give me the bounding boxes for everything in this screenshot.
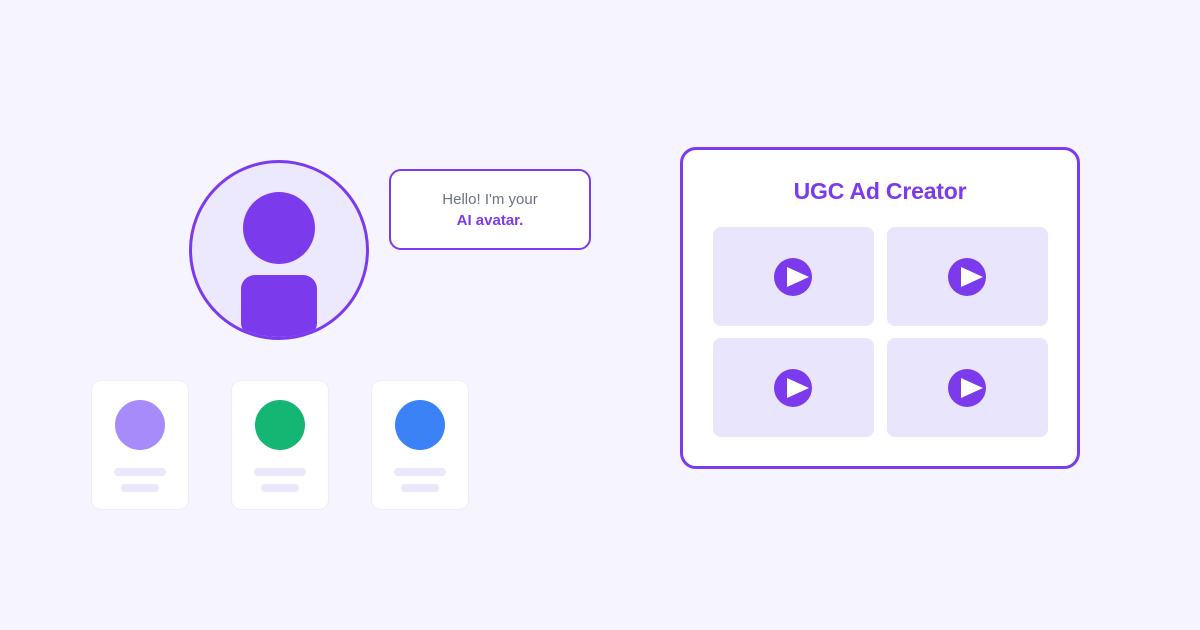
play-icon bbox=[771, 366, 815, 410]
avatar bbox=[115, 400, 165, 450]
canvas: Hello! I'm your AI avatar. UGC Ad Creato… bbox=[0, 0, 1200, 630]
play-icon bbox=[771, 255, 815, 299]
ugc-ad-creator-panel: UGC Ad Creator bbox=[680, 147, 1080, 469]
speech-bubble: Hello! I'm your AI avatar. bbox=[389, 169, 591, 250]
panel-title: UGC Ad Creator bbox=[683, 178, 1077, 205]
placeholder-bar-secondary bbox=[261, 484, 299, 492]
speech-bubble-line-2: AI avatar. bbox=[457, 211, 524, 230]
video-thumbnail-4[interactable] bbox=[887, 338, 1048, 437]
placeholder-bar-primary bbox=[254, 468, 306, 476]
placeholder-bar-primary bbox=[114, 468, 166, 476]
avatar bbox=[255, 400, 305, 450]
placeholder-bar-secondary bbox=[401, 484, 439, 492]
persona-card-purple[interactable] bbox=[91, 380, 189, 510]
avatar bbox=[395, 400, 445, 450]
play-icon bbox=[945, 366, 989, 410]
persona-card-blue[interactable] bbox=[371, 380, 469, 510]
placeholder-bar-primary bbox=[394, 468, 446, 476]
video-thumbnail-2[interactable] bbox=[887, 227, 1048, 326]
video-thumbnail-1[interactable] bbox=[713, 227, 874, 326]
play-icon bbox=[945, 255, 989, 299]
persona-card-green[interactable] bbox=[231, 380, 329, 510]
video-thumbnail-3[interactable] bbox=[713, 338, 874, 437]
avatar-body-icon bbox=[241, 275, 317, 337]
placeholder-bar-secondary bbox=[121, 484, 159, 492]
ai-avatar[interactable] bbox=[189, 160, 369, 340]
video-thumbnail-grid bbox=[683, 227, 1077, 437]
avatar-head-icon bbox=[243, 192, 315, 264]
speech-bubble-line-1: Hello! I'm your bbox=[442, 190, 537, 209]
